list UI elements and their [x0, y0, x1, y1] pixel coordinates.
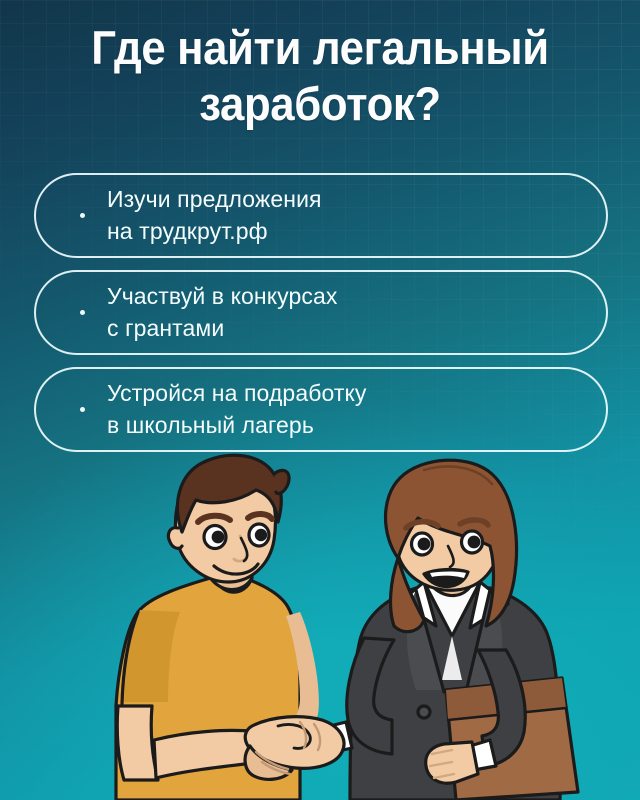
- page-title: Где найти легальный заработок?: [22, 20, 617, 133]
- handshake-illustration: [0, 440, 640, 800]
- list-item-2[interactable]: Участвуй в конкурсах с грантами: [34, 270, 608, 355]
- list-item-label: Участвуй в конкурсах с грантами: [107, 281, 357, 344]
- list-item-label: Устройся на подработку в школьный лагерь: [107, 378, 387, 441]
- woman-blazer-button: [418, 706, 430, 718]
- tips-list: Изучи предложения на трудкрут.рф Участву…: [34, 173, 608, 464]
- man-left-arm: [117, 706, 158, 780]
- list-item-1[interactable]: Изучи предложения на трудкрут.рф: [34, 173, 608, 258]
- bullet-dot-icon: [80, 407, 85, 412]
- list-item-label: Изучи предложения на трудкрут.рф: [107, 184, 342, 247]
- figure-businesswoman: [330, 460, 578, 800]
- poster-root: Где найти легальный заработок? Изучи пре…: [0, 0, 640, 800]
- bullet-dot-icon: [80, 213, 85, 218]
- bullet-dot-icon: [80, 310, 85, 315]
